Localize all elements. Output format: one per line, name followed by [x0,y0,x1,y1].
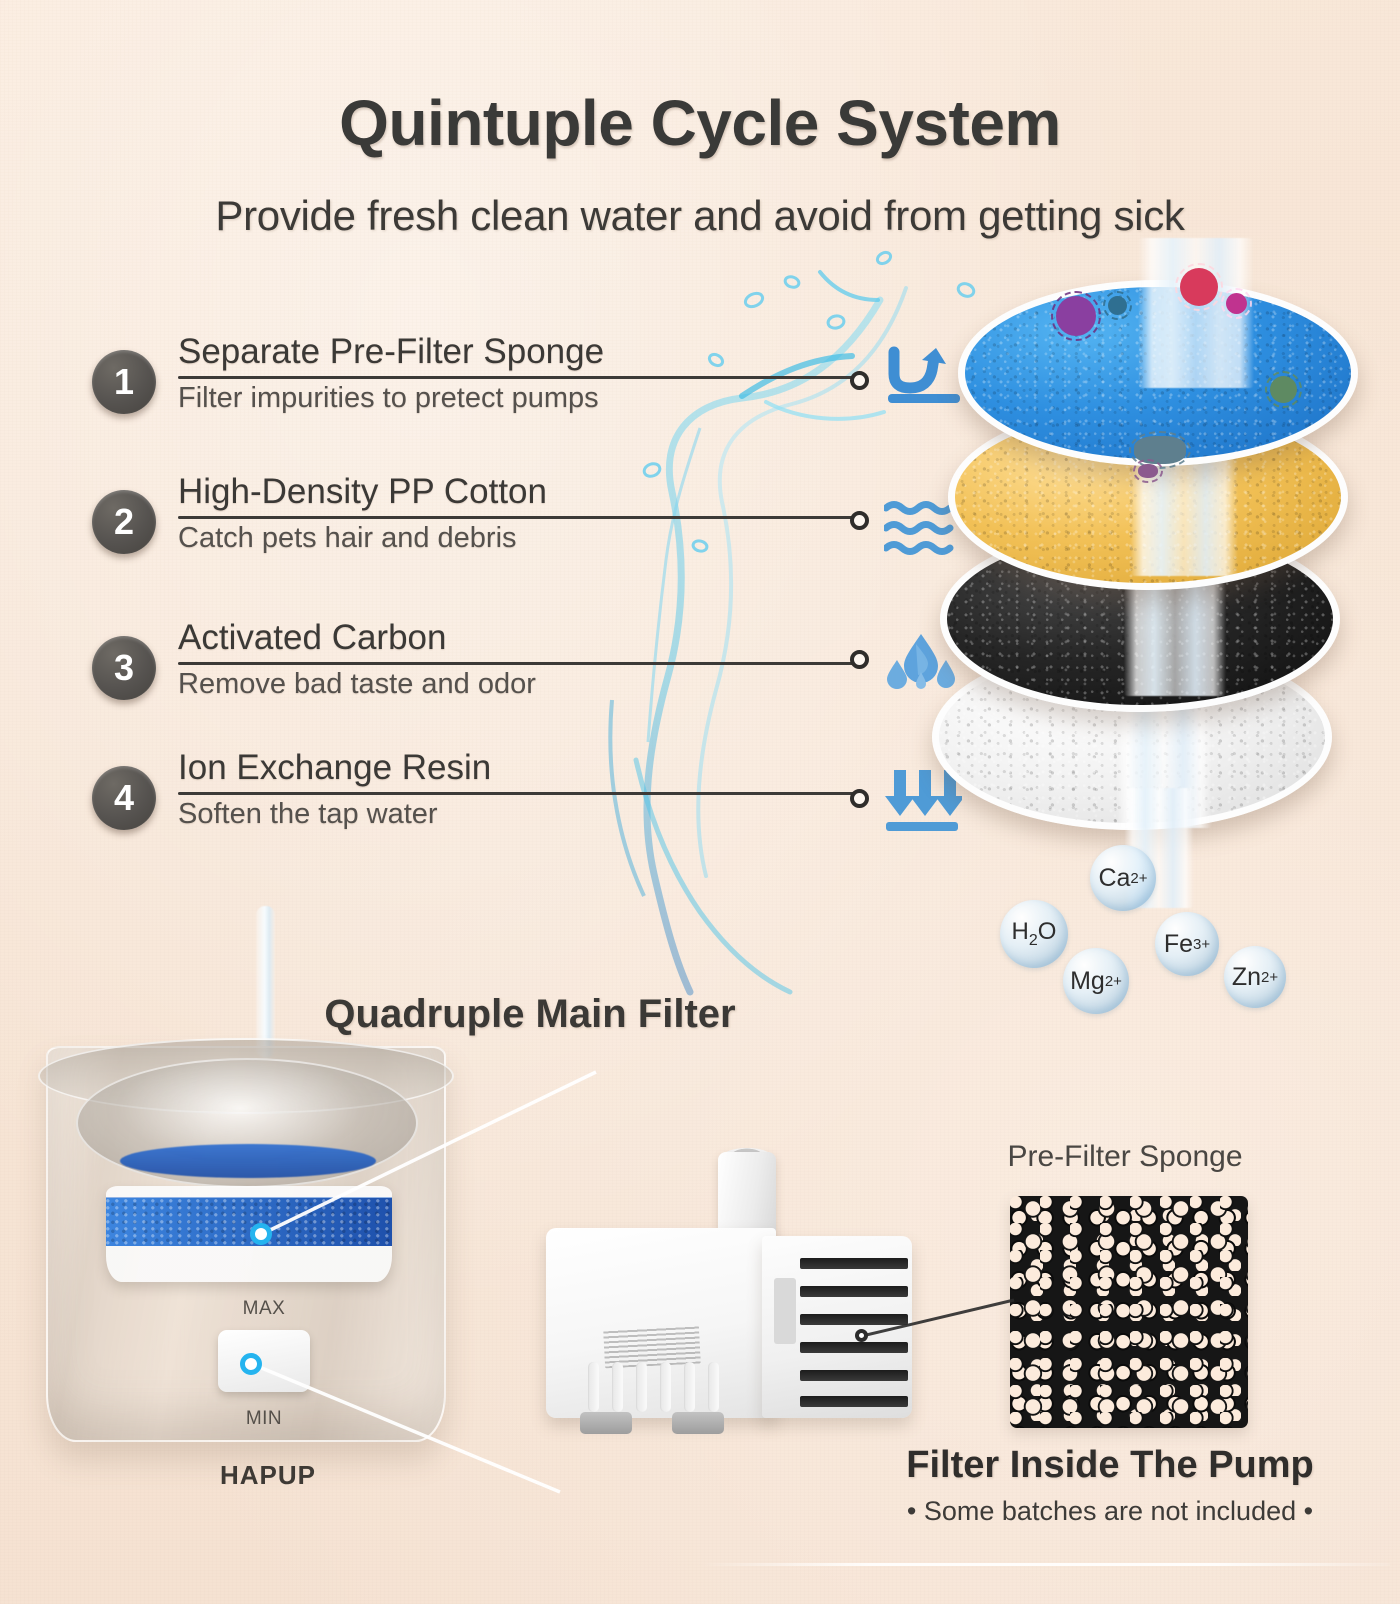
feature-number-badge-4: 4 [92,766,156,830]
water-level-max-label: MAX [214,1298,314,1320]
filter-layer-stack [948,248,1400,808]
mineral-bubble-ca: Ca2+ [1090,845,1156,911]
pump-suction-foot-right [672,1412,724,1434]
feature-number-badge-1: 1 [92,350,156,414]
infographic-page: Quintuple Cycle System Provide fresh cle… [0,0,1400,1604]
feature-endpoint-dot-2 [850,511,869,530]
feature-endpoint-dot-1 [850,371,869,390]
feature-number-badge-2: 2 [92,490,156,554]
germ-crimson-icon [1180,268,1218,306]
feature-subtext-1: Filter impurities to pretect pumps [178,382,878,415]
feature-endpoint-dot-3 [850,650,869,669]
page-title: Quintuple Cycle System [0,86,1400,160]
debris-violet-icon [1138,464,1158,478]
feature-subtext-4: Soften the tap water [178,798,878,831]
pump-intake-housing [762,1236,912,1418]
feature-heading-3: Activated Carbon [178,618,878,658]
section-note-pump-filter: • Some batches are not included • [830,1496,1390,1527]
feature-heading-4: Ion Exchange Resin [178,748,878,788]
feature-heading-1: Separate Pre-Filter Sponge [178,332,878,372]
label-pre-filter-sponge: Pre-Filter Sponge [870,1140,1380,1174]
pump-suction-foot-left [580,1412,632,1434]
feature-rule-3 [178,662,864,665]
page-subtitle: Provide fresh clean water and avoid from… [0,192,1400,240]
feature-subtext-3: Remove bad taste and odor [178,668,878,701]
water-pump-product [522,1140,922,1490]
mineral-charge-fe: 3+ [1193,936,1210,953]
mineral-bubble-mg: Mg2+ [1063,948,1129,1014]
feature-heading-2: High-Density PP Cotton [178,472,878,512]
filter-cartridge [106,1186,392,1282]
mineral-label-ca: Ca [1098,864,1130,893]
water-level-min-label: MIN [214,1408,314,1430]
feature-subtext-2: Catch pets hair and debris [178,522,878,555]
pump-side-slot [774,1278,796,1344]
germ-teal-icon [1108,296,1127,315]
callout-marker-pump-vent[interactable] [855,1329,868,1342]
bottom-divider [700,1563,1390,1566]
callout-marker-internal-pump[interactable] [240,1353,262,1375]
mineral-bubble-fe: Fe3+ [1155,912,1219,976]
brand-logo-text: HAPUP [188,1460,348,1491]
feature-endpoint-dot-4 [850,789,869,808]
mineral-bubble-h2o: H2O [1000,900,1068,968]
feature-rule-1 [178,376,864,379]
pet-water-fountain: MAX MIN HAPUP [28,900,498,1520]
pump-body [546,1228,776,1418]
mineral-bubble-zn: Zn2+ [1224,946,1286,1008]
mineral-label-fe: Fe [1164,930,1193,959]
germ-green-icon [1270,376,1297,403]
callout-marker-cartridge[interactable] [250,1223,272,1245]
mineral-label-zn: Zn [1232,963,1261,992]
mineral-charge-ca: 2+ [1130,870,1147,887]
wavy-lines-icon [884,500,958,563]
pre-filter-sponge-block [1010,1196,1248,1428]
feature-number-badge-3: 3 [92,636,156,700]
cartridge-blue-sponge [106,1198,392,1246]
mineral-charge-zn: 2+ [1261,969,1278,986]
fountain-internal-pump [218,1330,310,1392]
feature-rule-4 [178,792,864,795]
fountain-led-ring [120,1144,376,1178]
germ-purple-icon [1056,296,1096,336]
mineral-charge-mg: 2+ [1105,973,1122,990]
feature-rule-2 [178,516,864,519]
water-stream [256,906,275,1058]
germ-magenta-icon [1226,293,1247,314]
mineral-label-mg: Mg [1070,967,1105,996]
